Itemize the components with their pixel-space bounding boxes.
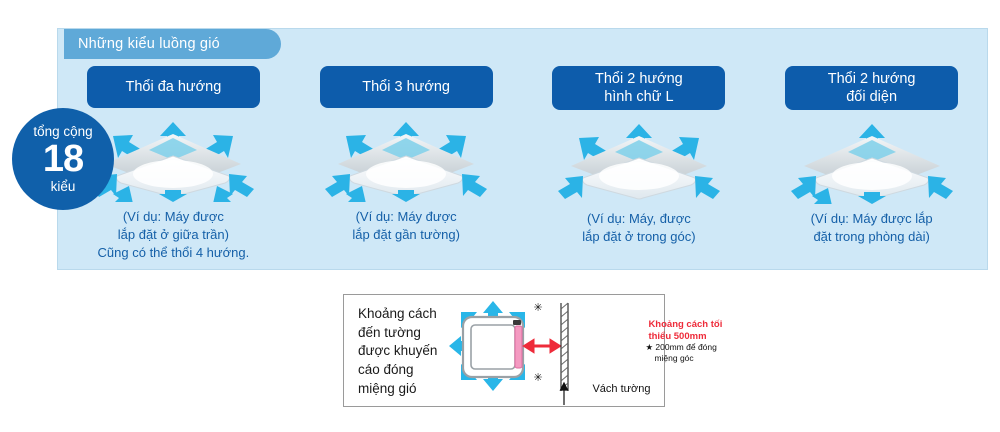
caption-extra: Cũng có thể thổi 4 hướng. <box>98 244 250 262</box>
airflow-column-3-direction: Thổi 3 hướng <box>290 28 523 270</box>
min-distance-red-text: Khoảng cách tối thiểu 500mm <box>648 319 722 343</box>
column-caption-2-direction-opposite: (Ví dụ: Máy được lắp đặt trong phòng dài… <box>811 210 933 245</box>
column-caption-multi-direction: (Ví dụ: Máy được lắp đặt ở giữa trần) Cũ… <box>98 208 250 262</box>
airflow-column-2-direction-l: Thổi 2 hướng hình chữ L <box>523 28 756 270</box>
column-tag-label: Thổi đa hướng <box>125 78 221 96</box>
airflow-columns: Thổi đa hướng <box>57 28 988 270</box>
star-mark-bottom: ✳ <box>533 373 542 384</box>
corner-close-star-note: ★ 200mm để đóng miệng góc <box>645 342 716 364</box>
column-tag-label-line-1: Thổi 2 hướng <box>828 70 916 88</box>
star-mark-top: ✳ <box>533 303 542 314</box>
badge-top-label: tổng cộng <box>33 125 92 139</box>
caption-line-2: đặt trong phòng dài) <box>811 228 933 246</box>
caption-line-1: (Ví dụ: Máy được <box>98 208 250 226</box>
star-note-line-2: miệng góc <box>645 353 716 364</box>
red-text-line-1: Khoảng cách tối <box>648 319 722 331</box>
wall-distance-note-text: Khoảng cách đến tường được khuyến cáo đó… <box>344 295 437 406</box>
column-tag-multi-direction: Thổi đa hướng <box>87 66 260 108</box>
caption-line-1: (Ví dụ: Máy được lắp <box>811 210 933 228</box>
total-count-badge: tổng cộng 18 kiểu <box>12 108 114 210</box>
note-text-line-1: Khoảng cách <box>358 305 437 324</box>
red-text-line-2: thiểu 500mm <box>648 331 722 343</box>
caption-line-2: lắp đặt ở trong góc) <box>582 228 695 246</box>
column-tag-2-direction-l: Thổi 2 hướng hình chữ L <box>552 66 725 110</box>
column-caption-2-direction-l: (Ví dụ: Máy, được lắp đặt ở trong góc) <box>582 210 695 245</box>
note-text-line-5: miệng gió <box>358 380 437 399</box>
caption-line-2: lắp đặt ở giữa trần) <box>98 226 250 244</box>
column-tag-label-line-2: hình chữ L <box>595 88 683 106</box>
wall-distance-diagram: ✳ ✳ Khoảng cách tối thiểu 500mm ★ 200mm … <box>437 295 664 406</box>
column-tag-2-direction-opposite: Thổi 2 hướng đối diện <box>785 66 958 110</box>
column-tag-label-line-1: Thổi 2 hướng <box>595 70 683 88</box>
badge-number: 18 <box>43 140 83 178</box>
column-caption-3-direction: (Ví dụ: Máy được lắp đặt gần tường) <box>352 208 460 243</box>
airflow-column-2-direction-opposite: Thổi 2 hướng đối diện <box>755 28 988 270</box>
badge-bottom-label: kiểu <box>51 180 76 194</box>
ceiling-cassette-2-direction-l-icon <box>539 118 739 204</box>
column-tag-label: Thổi 3 hướng <box>362 78 450 96</box>
caption-line-2: lắp đặt gần tường) <box>352 226 460 244</box>
note-text-line-3: được khuyến <box>358 342 437 361</box>
note-text-line-2: đến tường <box>358 324 437 343</box>
star-note-line-1: ★ 200mm để đóng <box>645 342 716 353</box>
note-text-line-4: cáo đóng <box>358 361 437 380</box>
caption-line-1: (Ví dụ: Máy được <box>352 208 460 226</box>
wall-distance-note-box: Khoảng cách đến tường được khuyến cáo đó… <box>343 294 665 407</box>
ceiling-cassette-3-direction-icon <box>306 116 506 202</box>
column-tag-label-line-2: đối diện <box>828 88 916 106</box>
ceiling-cassette-2-direction-opposite-icon <box>772 118 972 204</box>
caption-line-1: (Ví dụ: Máy, được <box>582 210 695 228</box>
column-tag-3-direction: Thổi 3 hướng <box>320 66 493 108</box>
wall-label: Vách tường <box>592 383 650 395</box>
